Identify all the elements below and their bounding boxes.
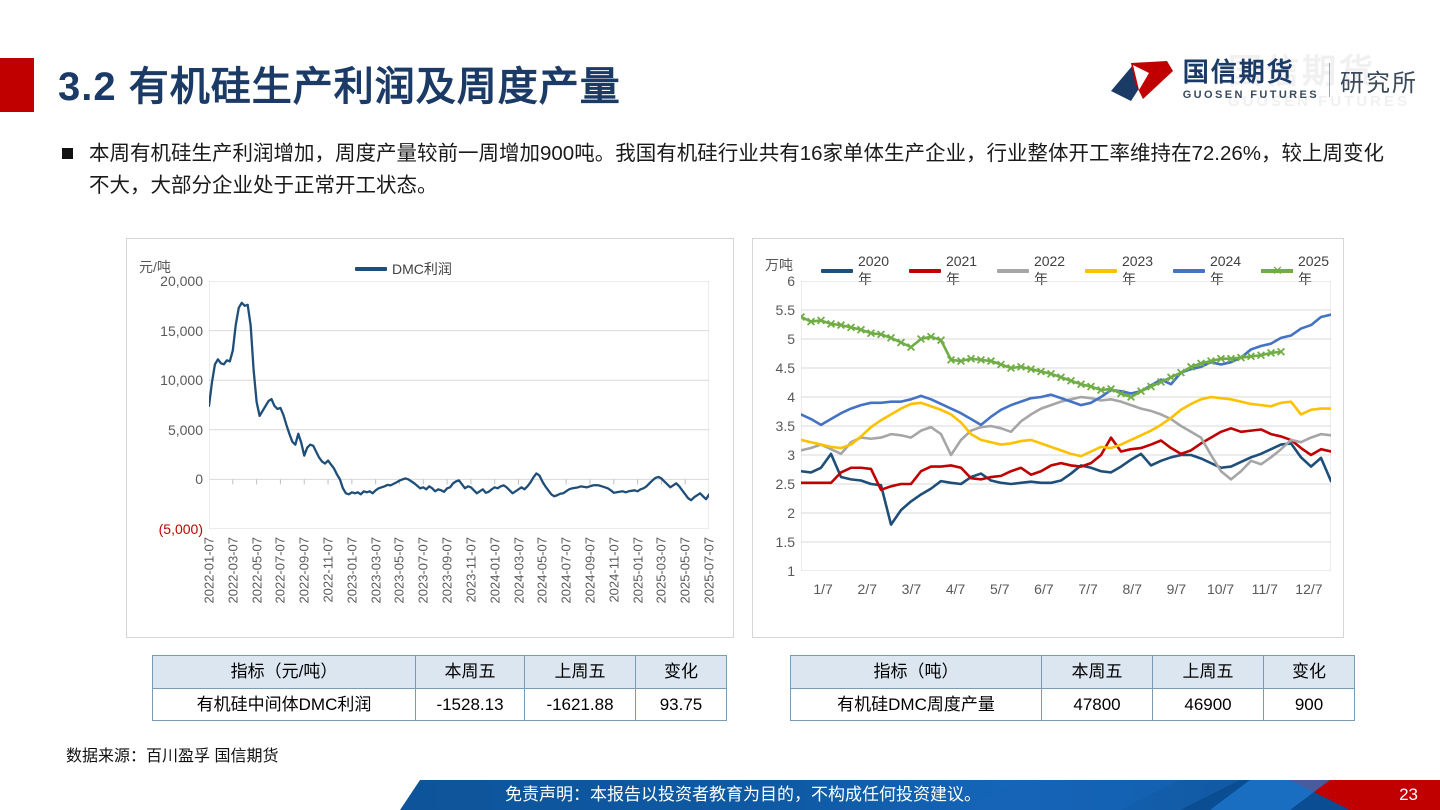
brand-logo-text: 国信期货 GUOSEN FUTURES <box>1183 59 1319 100</box>
slide-footer: 免责声明：本报告以投资者教育为目的，不构成任何投资建议。 23 <box>0 780 1440 810</box>
y-tick-label: 3.5 <box>776 418 795 434</box>
title-accent-bar <box>0 58 34 112</box>
y-tick-label: 1 <box>787 563 795 579</box>
y-tick-label: 5.5 <box>776 302 795 318</box>
summary-text: 本周有机硅生产利润增加，周度产量较前一周增加900吨。我国有机硅行业共有16家单… <box>89 138 1392 202</box>
legend-swatch-icon <box>1085 269 1117 273</box>
legend-swatch-icon <box>355 267 387 271</box>
left-chart-svg <box>209 281 709 529</box>
x-tick-label: 2023-03-07 <box>368 537 383 604</box>
x-tick-label: 2025-01-07 <box>630 537 645 604</box>
legend-swatch-icon <box>997 269 1029 273</box>
x-tick-label: 2024-05-07 <box>535 537 550 604</box>
legend-label: DMC利润 <box>392 259 452 279</box>
right-chart-plot-area <box>801 281 1331 571</box>
y-tick-label: 0 <box>195 471 203 487</box>
table-header-cell: 指标（吨） <box>791 656 1042 689</box>
x-tick-label: 2023-09-07 <box>440 537 455 604</box>
x-tick-label: 2022-05-07 <box>249 537 264 604</box>
left-chart-legend: DMC利润 <box>355 259 452 279</box>
x-tick-label: 2022-03-07 <box>225 537 240 604</box>
logo-divider <box>1329 63 1330 97</box>
x-tick-label: 2025-03-07 <box>654 537 669 604</box>
brand-logo: 国信期货 GUOSEN FUTURES 研究所 <box>1109 50 1418 110</box>
x-tick-label: 11/7 <box>1252 581 1278 597</box>
x-tick-label: 7/7 <box>1078 581 1097 597</box>
series-2025年 <box>801 317 1281 397</box>
legend-swatch-icon <box>1173 269 1205 273</box>
x-tick-label: 2023-01-07 <box>344 537 359 604</box>
table-row: 有机硅中间体DMC利润-1528.13-1621.8893.75 <box>153 688 727 721</box>
legend-item-0: DMC利润 <box>355 259 452 279</box>
x-tick-label: 5/7 <box>990 581 1009 597</box>
table-header-row: 指标（元/吨）本周五上周五变化 <box>153 656 727 689</box>
summary-bullet: 本周有机硅生产利润增加，周度产量较前一周增加900吨。我国有机硅行业共有16家单… <box>62 138 1392 202</box>
table-cell: -1621.88 <box>525 688 636 721</box>
x-tick-label: 3/7 <box>902 581 921 597</box>
x-tick-label: 2023-07-07 <box>416 537 431 604</box>
x-tick-label: 2/7 <box>858 581 877 597</box>
table-header-cell: 上周五 <box>1153 656 1264 689</box>
x-tick-label: 4/7 <box>946 581 965 597</box>
page-title: 3.2 有机硅生产利润及周度产量 <box>58 54 621 112</box>
y-tick-label: 5,000 <box>168 422 203 438</box>
table-header-cell: 本周五 <box>416 656 525 689</box>
table-cell: 有机硅中间体DMC利润 <box>153 688 416 721</box>
x-tick-label: 2023-11-07 <box>463 537 478 603</box>
y-tick-label: 10,000 <box>160 372 203 388</box>
x-tick-label: 10/7 <box>1207 581 1234 597</box>
x-tick-label: 2024-09-07 <box>582 537 597 604</box>
y-tick-label: 1.5 <box>776 534 795 550</box>
y-tick-label: 4 <box>787 389 795 405</box>
legend-swatch-icon <box>821 269 853 273</box>
x-tick-label: 2025-05-07 <box>678 537 693 604</box>
weekly-output-chart-panel: 万吨 2020年2021年2022年2023年2024年✕2025年 11.52… <box>752 238 1344 638</box>
y-tick-label: 2.5 <box>776 476 795 492</box>
y-tick-label: 3 <box>787 447 795 463</box>
brand-name-cn: 国信期货 <box>1183 59 1319 86</box>
y-tick-label: 2 <box>787 505 795 521</box>
x-tick-label: 9/7 <box>1167 581 1186 597</box>
table-header-cell: 变化 <box>636 656 727 689</box>
x-tick-label: 8/7 <box>1123 581 1142 597</box>
table-header-row: 指标（吨）本周五上周五变化 <box>791 656 1355 689</box>
x-tick-label: 2024-11-07 <box>606 537 621 603</box>
table-header-cell: 上周五 <box>525 656 636 689</box>
table-cell: -1528.13 <box>416 688 525 721</box>
x-tick-label: 2024-01-07 <box>487 537 502 604</box>
left-chart-plot-area <box>209 281 709 529</box>
series-2023年 <box>801 397 1331 456</box>
legend-swatch-icon <box>909 269 941 273</box>
brand-name-en: GUOSEN FUTURES <box>1183 89 1319 101</box>
legend-swatch-icon: ✕ <box>1261 266 1293 276</box>
table-cell: 93.75 <box>636 688 727 721</box>
footer-disclaimer: 免责声明：本报告以投资者教育为目的，不构成任何投资建议。 <box>505 780 981 810</box>
x-tick-label: 2023-05-07 <box>392 537 407 604</box>
table-cell: 47800 <box>1042 688 1153 721</box>
dmc-profit-table: 指标（元/吨）本周五上周五变化有机硅中间体DMC利润-1528.13-1621.… <box>152 655 727 721</box>
x-tick-label: 2024-07-07 <box>559 537 574 604</box>
series-2024年 <box>801 315 1331 425</box>
x-tick-label: 6/7 <box>1034 581 1053 597</box>
bullet-square-icon <box>62 148 73 159</box>
table-cell: 46900 <box>1153 688 1264 721</box>
y-tick-label: 15,000 <box>160 323 203 339</box>
y-tick-label: 6 <box>787 273 795 289</box>
brand-department: 研究所 <box>1340 63 1418 98</box>
dmc-profit-chart-panel: 元/吨 DMC利润 20,00015,00010,0005,0000(5,000… <box>126 238 734 638</box>
table-row: 有机硅DMC周度产量4780046900900 <box>791 688 1355 721</box>
x-tick-label: 2022-07-07 <box>273 537 288 604</box>
guosen-logo-icon <box>1109 57 1175 103</box>
y-tick-label: (5,000) <box>159 521 203 537</box>
x-tick-label: 12/7 <box>1295 581 1322 597</box>
table-cell: 900 <box>1264 688 1355 721</box>
right-chart-svg <box>801 281 1331 571</box>
table-header-cell: 指标（元/吨） <box>153 656 416 689</box>
x-tick-label: 2022-01-07 <box>202 537 217 604</box>
y-tick-label: 4.5 <box>776 360 795 376</box>
weekly-output-table: 指标（吨）本周五上周五变化有机硅DMC周度产量4780046900900 <box>790 655 1355 721</box>
right-chart-unit-label: 万吨 <box>765 255 793 275</box>
table-cell: 有机硅DMC周度产量 <box>791 688 1042 721</box>
x-tick-label: 2025-07-07 <box>702 537 717 604</box>
series-2022年 <box>801 397 1331 479</box>
table-header-cell: 变化 <box>1264 656 1355 689</box>
y-tick-label: 20,000 <box>160 273 203 289</box>
x-tick-label: 1/7 <box>813 581 832 597</box>
x-tick-label: 2024-03-07 <box>511 537 526 604</box>
table-header-cell: 本周五 <box>1042 656 1153 689</box>
slide: 3.2 有机硅生产利润及周度产量 国信期货 GUOSEN FUTURES 国信期… <box>0 0 1440 810</box>
x-tick-label: 2022-09-07 <box>297 537 312 604</box>
page-number: 23 <box>1399 780 1418 810</box>
x-tick-label: 2022-11-07 <box>321 537 336 603</box>
y-tick-label: 5 <box>787 331 795 347</box>
source-note: 数据来源：百川盈孚 国信期货 <box>66 742 278 766</box>
